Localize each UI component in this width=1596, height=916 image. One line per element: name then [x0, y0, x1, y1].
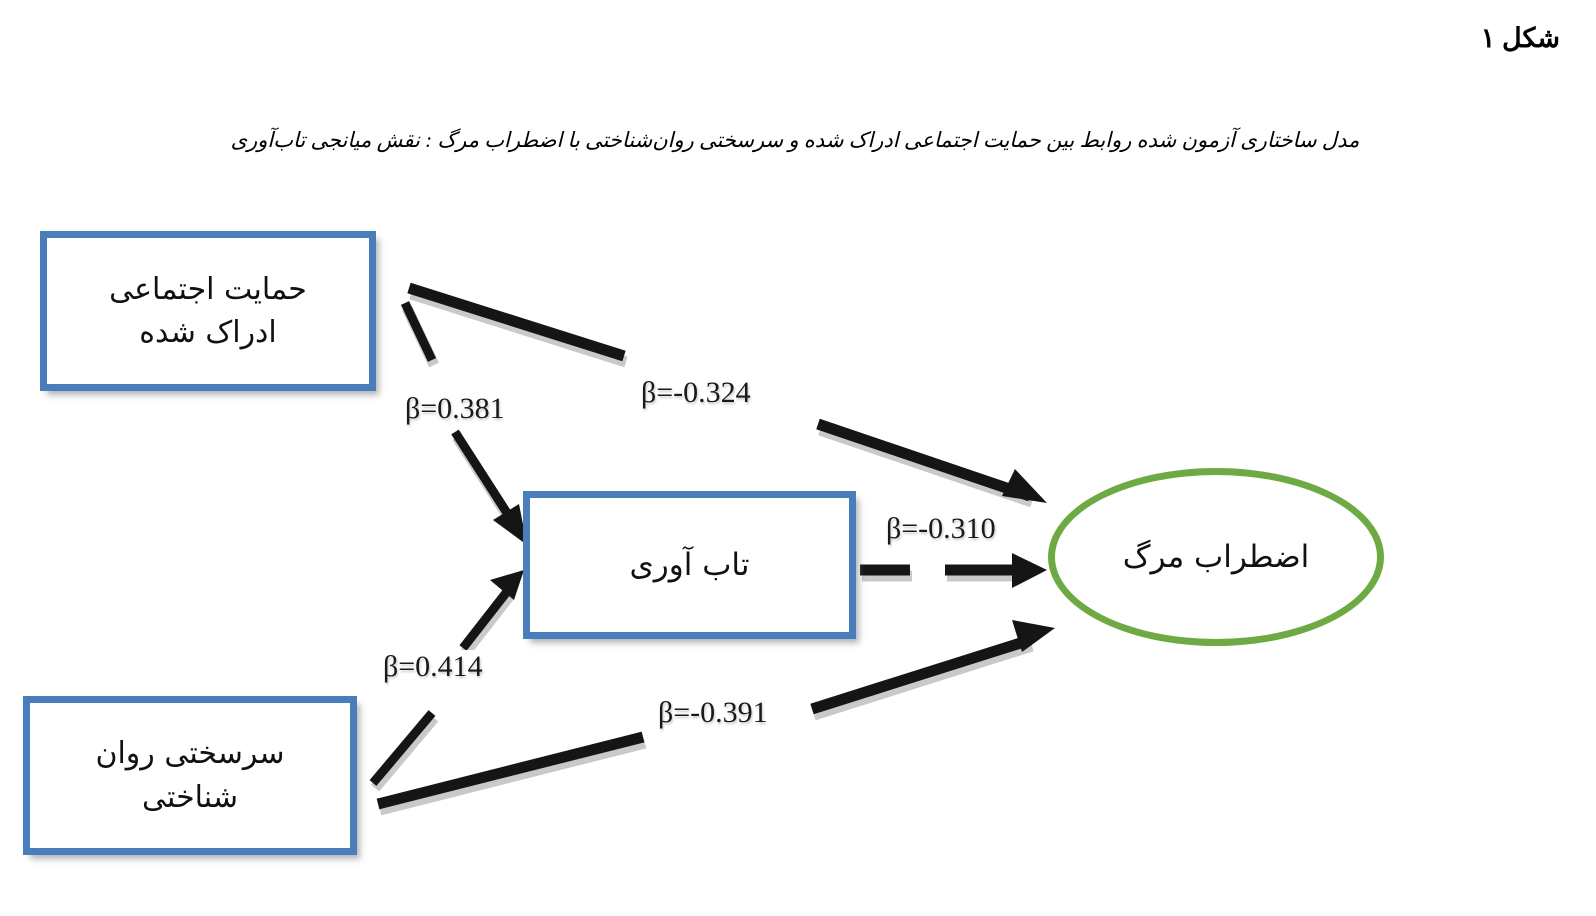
edge-resilience-to-death-anxiety	[860, 553, 1047, 588]
node-resilience[interactable]: تاب آوری	[523, 491, 856, 639]
edge-label-support-to-resilience: β=0.381	[400, 392, 510, 426]
figure-number-title: شکل ۱	[1481, 22, 1560, 54]
figure-container: شکل ۱ مدل ساختاری آزمون شده روابط بین حم…	[0, 0, 1596, 916]
edge-label-hardiness-to-resilience: β=0.414	[378, 650, 488, 684]
node-death-anxiety[interactable]: اضطراب مرگ	[1048, 468, 1384, 646]
edge-label-resilience-to-death-anxiety: β=-0.310	[881, 512, 1001, 546]
edge-label-support-to-death-anxiety: β=-0.324	[636, 376, 756, 410]
node-psychological-hardiness-label: سرسختی روان شناختی	[85, 732, 294, 819]
node-death-anxiety-label: اضطراب مرگ	[1123, 539, 1310, 575]
node-resilience-label: تاب آوری	[620, 543, 760, 588]
node-perceived-social-support[interactable]: حمایت اجتماعی ادراک شده	[40, 231, 376, 391]
figure-caption: مدل ساختاری آزمون شده روابط بین حمایت اج…	[40, 126, 1550, 154]
edge-label-hardiness-to-death-anxiety: β=-0.391	[653, 696, 773, 730]
node-perceived-social-support-label: حمایت اجتماعی ادراک شده	[99, 268, 317, 355]
node-psychological-hardiness[interactable]: سرسختی روان شناختی	[23, 696, 357, 855]
